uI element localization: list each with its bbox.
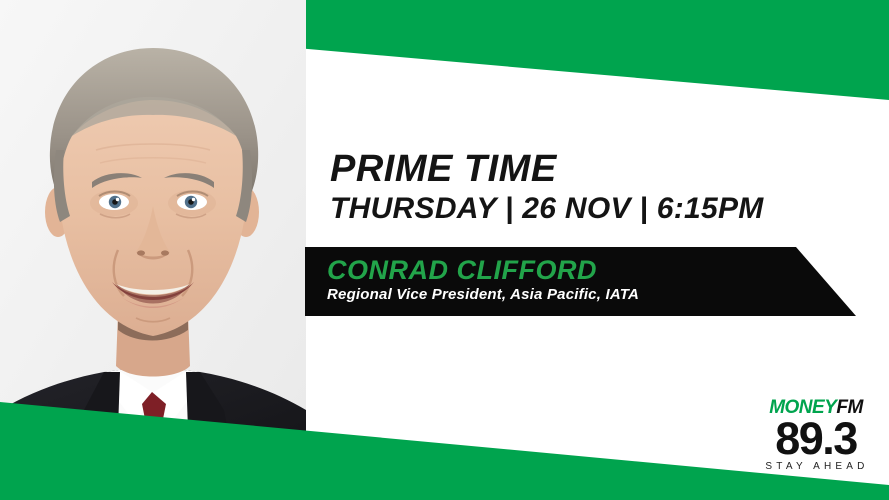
programme-schedule: THURSDAY | 26 NOV | 6:15PM [330,194,764,224]
guest-job-title: Regional Vice President, Asia Pacific, I… [327,287,856,303]
headline-block: PRIME TIME THURSDAY | 26 NOV | 6:15PM [330,150,764,224]
guest-name-banner-inner: CONRAD CLIFFORD Regional Vice President,… [305,247,856,303]
station-frequency: 89.3 [757,418,875,459]
station-logo: MONEYFM 89.3 STAY AHEAD [757,398,875,472]
guest-name-banner: CONRAD CLIFFORD Regional Vice President,… [305,247,856,316]
programme-title: PRIME TIME [330,150,764,188]
station-tagline: STAY AHEAD [759,462,875,472]
guest-name: CONRAD CLIFFORD [327,256,856,284]
promo-graphic: PRIME TIME THURSDAY | 26 NOV | 6:15PM CO… [0,0,889,500]
